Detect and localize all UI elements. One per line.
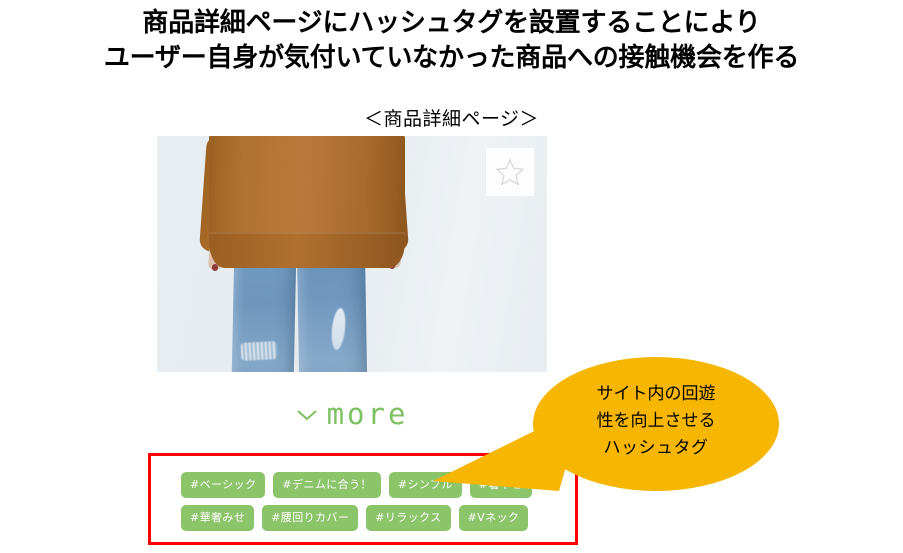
star-outline-icon: [495, 158, 525, 187]
hashtag-chip[interactable]: #ベーシック: [181, 472, 265, 498]
product-detail-page-mock: [157, 136, 547, 372]
jeans-hem-rip: [241, 341, 278, 361]
hashtag-row: #ベーシック #デニムに合う！ #シンプル #着やせ: [181, 472, 551, 498]
hashtag-chip[interactable]: #着やせ: [470, 472, 532, 498]
hashtag-chip[interactable]: #Vネック: [459, 505, 529, 531]
product-photo: [157, 136, 547, 372]
hashtag-row: #華奢みせ #腰回りカバー #リラックス #Vネック: [181, 505, 551, 531]
more-label: more: [327, 397, 409, 431]
page-title-line-2: ユーザー自身が気付いていなかった商品への接触機会を作る: [0, 41, 903, 76]
hashtag-chip[interactable]: #華奢みせ: [181, 505, 254, 531]
hashtag-highlight-box: #ベーシック #デニムに合う！ #シンプル #着やせ #華奢みせ #腰回りカバー…: [148, 453, 578, 545]
chevron-down-icon: [296, 408, 318, 422]
page-title: 商品詳細ページにハッシュタグを設置することにより ユーザー自身が気付いていなかっ…: [0, 6, 903, 76]
hashtag-list: #ベーシック #デニムに合う！ #シンプル #着やせ #華奢みせ #腰回りカバー…: [181, 472, 551, 538]
hashtag-chip[interactable]: #シンプル: [389, 472, 462, 498]
slide-root: { "headline": { "line1": "商品詳細ページにハッシュタグ…: [0, 0, 903, 553]
section-caption: ＜商品詳細ページ＞: [0, 107, 903, 131]
more-link[interactable]: more: [157, 398, 547, 430]
hashtag-chip[interactable]: #デニムに合う！: [273, 472, 380, 498]
hashtag-chip[interactable]: #リラックス: [366, 505, 450, 531]
page-title-line-1: 商品詳細ページにハッシュタグを設置することにより: [0, 6, 903, 41]
hashtag-chip[interactable]: #腰回りカバー: [262, 505, 358, 531]
sweater-hem: [209, 232, 405, 268]
favorite-button[interactable]: [485, 147, 535, 197]
callout-line-2: 性を向上させる: [533, 408, 779, 435]
callout-line-1: サイト内の回遊: [533, 381, 779, 408]
callout-text: サイト内の回遊 性を向上させる ハッシュタグ: [533, 381, 779, 462]
